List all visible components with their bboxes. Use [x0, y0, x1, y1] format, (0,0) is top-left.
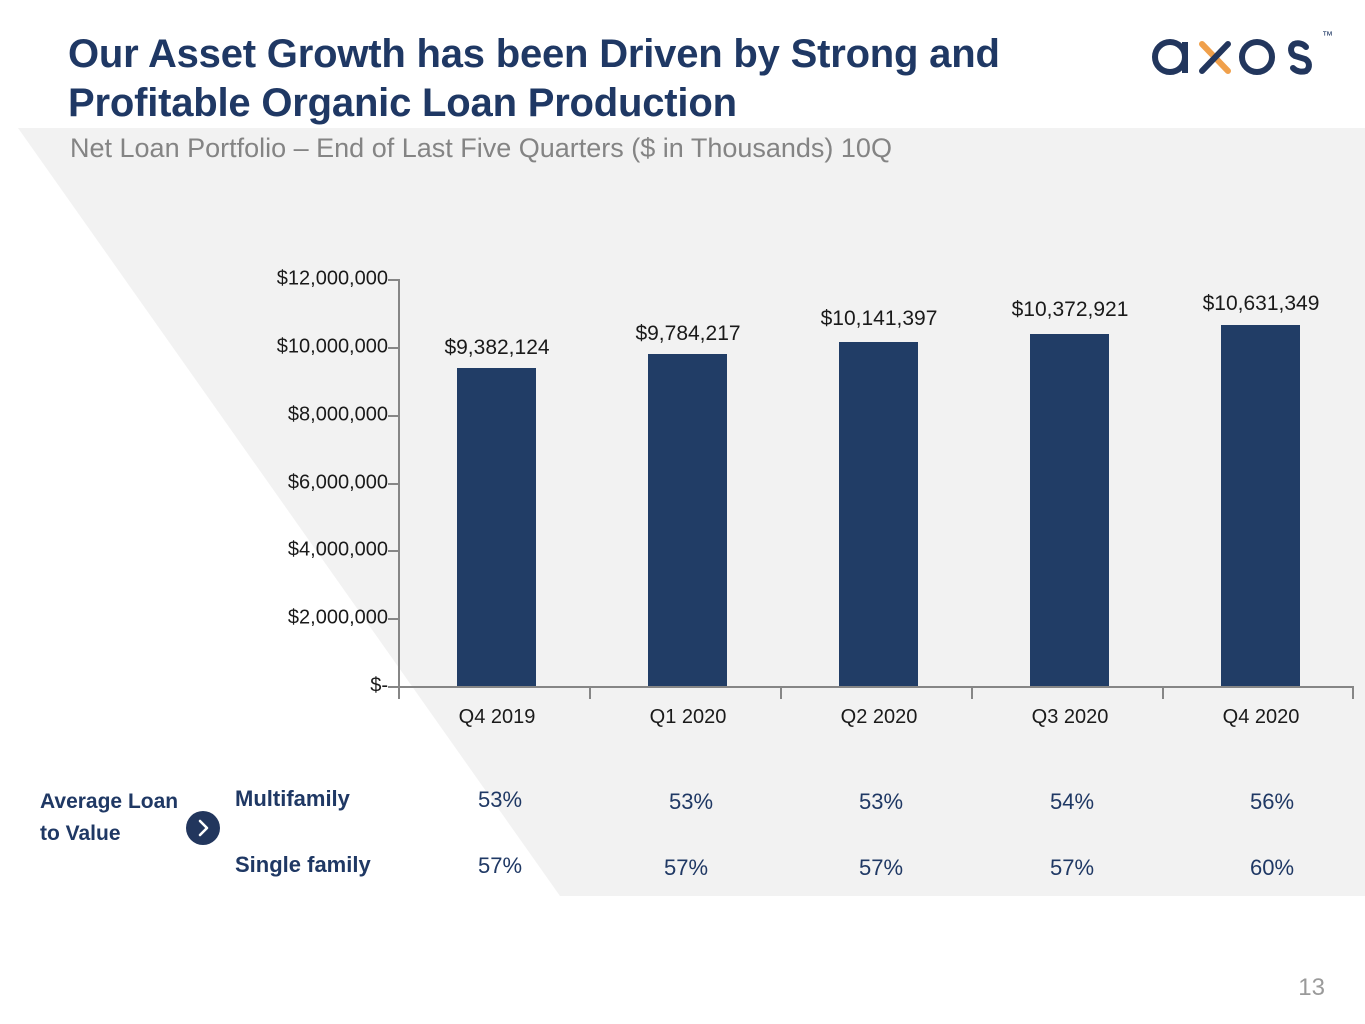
chevron-right-circle-icon	[185, 810, 221, 846]
ltv-value: 56%	[1250, 789, 1294, 815]
ltv-row-label-single-family: Single family	[235, 852, 371, 878]
ltv-value: 53%	[859, 789, 903, 815]
ltv-row-label-multifamily: Multifamily	[235, 786, 350, 812]
slide-root: Our Asset Growth has been Driven by Stro…	[0, 0, 1365, 1024]
ltv-value: 54%	[1050, 789, 1094, 815]
page-number: 13	[1298, 974, 1325, 1002]
ltv-value: 53%	[478, 787, 522, 813]
average-loan-to-value-section: Average Loan to Value Multifamily 53% 53…	[0, 0, 1365, 1024]
ltv-value: 57%	[478, 853, 522, 879]
ltv-value: 53%	[669, 789, 713, 815]
ltv-value: 57%	[1050, 855, 1094, 881]
ltv-value: 57%	[859, 855, 903, 881]
ltv-value: 60%	[1250, 855, 1294, 881]
axos-logo: ™	[1143, 26, 1333, 88]
ltv-value: 57%	[664, 855, 708, 881]
ltv-section-title: Average Loan to Value	[40, 786, 190, 850]
axos-logo-mark	[1143, 26, 1333, 88]
trademark-symbol: ™	[1322, 30, 1333, 42]
